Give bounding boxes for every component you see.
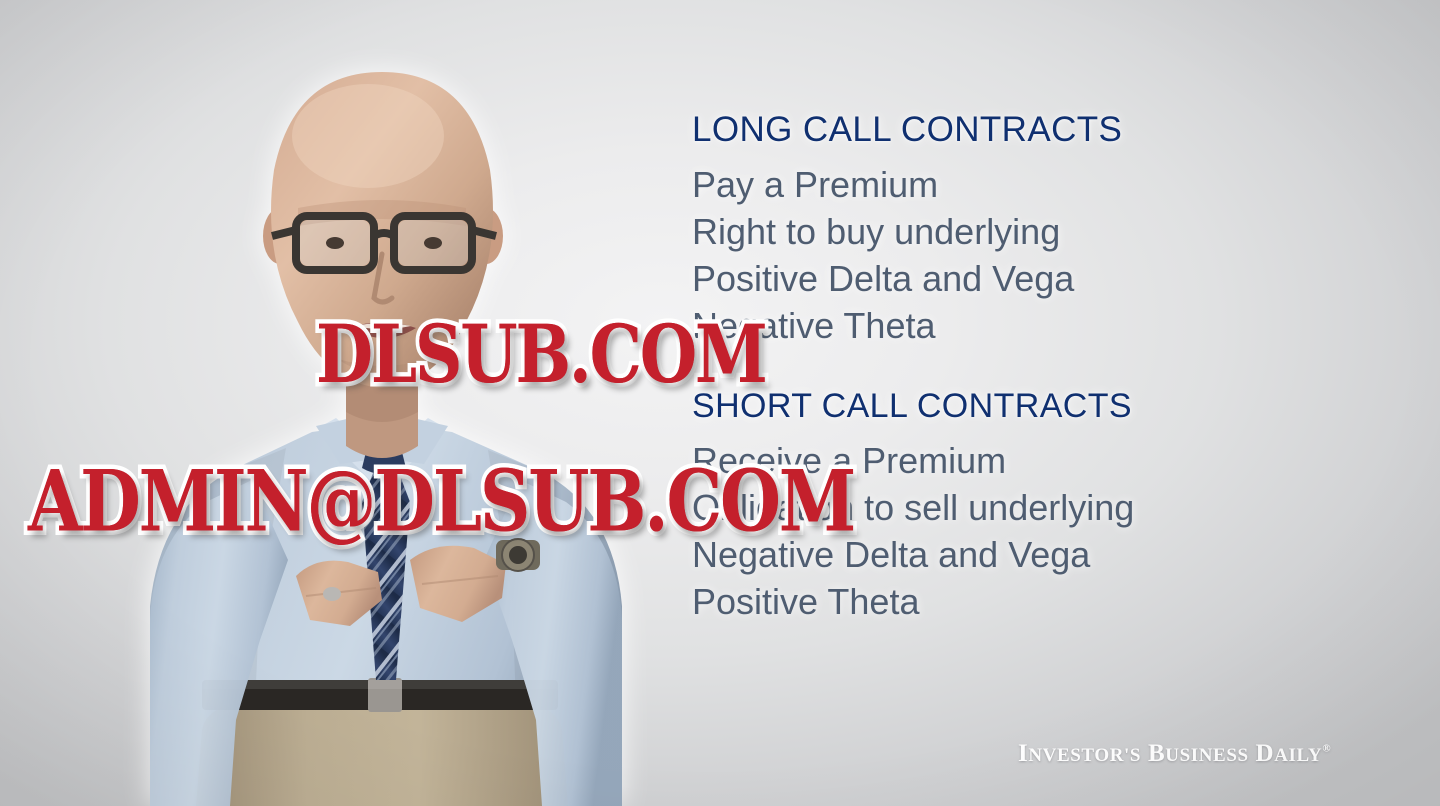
logo-b-rest: USINESS	[1165, 745, 1248, 766]
long-call-bullets: Pay a Premium Right to buy underlying Po…	[692, 161, 1332, 349]
logo-d: D	[1256, 740, 1275, 767]
video-frame: LONG CALL CONTRACTS Pay a Premium Right …	[0, 0, 1440, 806]
presenter-figure	[110, 40, 670, 806]
short-call-heading: SHORT CALL CONTRACTS	[692, 389, 1332, 423]
logo-d-rest: AILY	[1274, 745, 1322, 766]
logo-i: I	[1018, 740, 1028, 767]
long-call-heading: LONG CALL CONTRACTS	[692, 112, 1332, 147]
list-item: Right to buy underlying	[692, 208, 1332, 255]
list-item: Pay a Premium	[692, 161, 1332, 208]
long-call-section: LONG CALL CONTRACTS Pay a Premium Right …	[692, 112, 1332, 349]
list-item: Positive Delta and Vega	[692, 255, 1332, 302]
wedding-ring	[323, 587, 341, 601]
list-item: Negative Theta	[692, 302, 1332, 349]
list-item: Positive Theta	[692, 578, 1332, 625]
trousers	[196, 702, 568, 806]
logo-b: B	[1148, 740, 1165, 767]
registered-mark-icon: ®	[1322, 743, 1331, 755]
watermark-site: DLSUB.COM	[316, 308, 766, 401]
investors-business-daily-logo: INVESTOR'S BUSINESS DAILY®	[1018, 740, 1331, 768]
logo-i-rest: NVESTOR'S	[1028, 745, 1141, 766]
watermark-email: ADMIN@DLSUB.COM	[28, 451, 854, 551]
